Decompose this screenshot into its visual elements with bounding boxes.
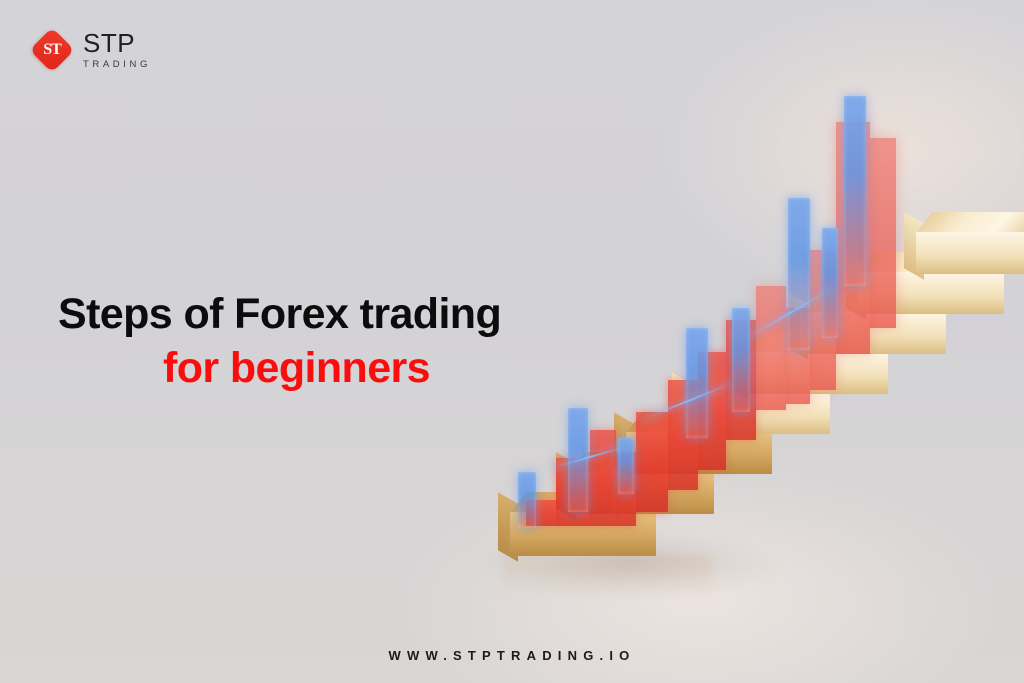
blue-volume-bar-6 — [788, 198, 810, 350]
page-title: Steps of Forex trading for beginners — [58, 292, 501, 391]
blue-volume-bar-8 — [844, 96, 866, 286]
logo-monogram: ST — [30, 28, 74, 72]
red-area-chart-segment-5 — [636, 412, 668, 512]
brand-tagline: TRADING — [83, 60, 151, 70]
blue-volume-bar-1 — [518, 472, 536, 528]
red-area-chart-segment-13 — [870, 138, 896, 328]
blue-volume-bar-5 — [732, 308, 750, 412]
blue-volume-bar-7 — [822, 228, 838, 338]
red-area-chart-segment-9 — [756, 286, 786, 410]
staircase-group — [440, 60, 1024, 620]
headline-line-accent: for beginners — [163, 346, 501, 392]
step-reflection — [502, 555, 712, 599]
red-area-chart-segment-3 — [590, 430, 616, 526]
blue-volume-bar-4 — [686, 328, 708, 438]
stp-diamond-logo-icon: ST — [30, 28, 74, 72]
brand-name: STP — [83, 30, 151, 56]
hero-illustration — [440, 60, 1024, 620]
brand-logo-text: STP TRADING — [83, 30, 151, 70]
footer-website-url[interactable]: WWW.STPTRADING.IO — [0, 648, 1024, 663]
brand-logo[interactable]: ST STP TRADING — [30, 28, 151, 72]
headline-line-primary: Steps of Forex trading — [58, 292, 501, 338]
marketing-banner: ST STP TRADING Steps of Forex trading fo… — [0, 0, 1024, 683]
